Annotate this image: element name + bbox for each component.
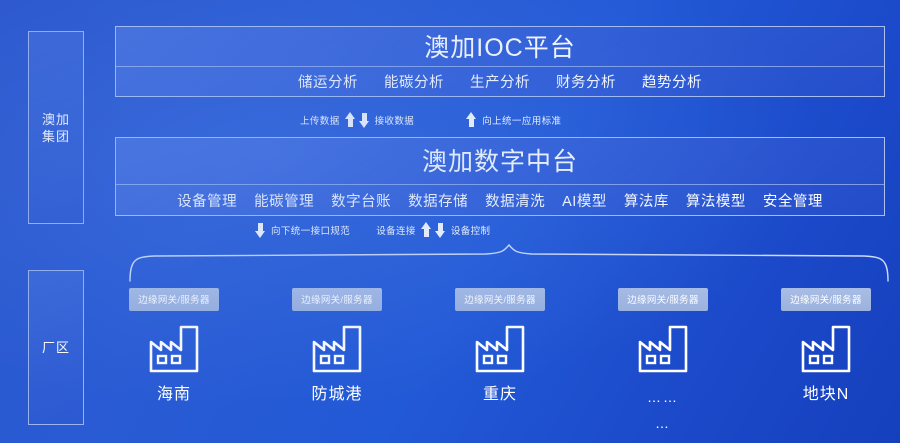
connector-device-control-label: 设备控制 xyxy=(451,223,491,237)
factory-icon xyxy=(147,324,201,374)
connector-device-connect-label: 设备连接 xyxy=(376,223,416,237)
panel-dmp-tag-row: 设备管理 能碳管理 数字台账 数据存储 数据清洗 AI模型 算法库 算法模型 安… xyxy=(116,184,884,215)
factory-icon xyxy=(799,324,853,374)
tag-chuyun-fenxi[interactable]: 储运分析 xyxy=(298,71,358,92)
panel-ioc-platform: 澳加IOC平台 储运分析 能碳分析 生产分析 财务分析 趋势分析 xyxy=(115,26,885,97)
edge-gateway-badge[interactable]: 边缘网关/服务器 xyxy=(129,288,219,311)
tag-ai-moxing[interactable]: AI模型 xyxy=(562,190,607,211)
tag-suanfa-moxing[interactable]: 算法模型 xyxy=(686,190,746,211)
diagram-canvas: 澳加 集团 厂区 澳加IOC平台 储运分析 能碳分析 生产分析 财务分析 趋势分… xyxy=(0,0,900,443)
edge-gateway-badge[interactable]: 边缘网关/服务器 xyxy=(455,288,545,311)
tag-shebei-guanli[interactable]: 设备管理 xyxy=(177,190,237,211)
connector-standard-label: 向上统一应用标准 xyxy=(482,113,561,127)
edge-gateway-badge[interactable]: 边缘网关/服务器 xyxy=(781,288,871,311)
plant-node-fangchenggang[interactable]: 边缘网关/服务器 防城港 xyxy=(271,288,403,438)
factory-icon xyxy=(310,324,364,374)
connector-upload-label: 上传数据 xyxy=(300,113,340,127)
connector-interface-label: 向下统一接口规范 xyxy=(271,223,350,237)
connector-interface: 向下统一接口规范 xyxy=(255,222,350,238)
connector-receive-label: 接收数据 xyxy=(375,113,415,127)
factory-icon xyxy=(473,324,527,374)
panel-ioc-tag-row: 储运分析 能碳分析 生产分析 财务分析 趋势分析 xyxy=(116,66,884,96)
tag-qushi-fenxi[interactable]: 趋势分析 xyxy=(642,71,702,92)
plant-node-hainan[interactable]: 边缘网关/服务器 海南 xyxy=(108,288,240,438)
plant-node-label: 重庆 xyxy=(483,384,517,405)
panel-dmp-title: 澳加数字中台 xyxy=(116,138,884,184)
tag-caiwu-fenxi[interactable]: 财务分析 xyxy=(556,71,616,92)
tag-shuju-cunchu[interactable]: 数据存储 xyxy=(408,190,468,211)
brace-connector xyxy=(128,243,890,283)
plant-node-dikuai-n[interactable]: 边缘网关/服务器 地块N xyxy=(760,288,892,438)
edge-gateway-badge[interactable]: 边缘网关/服务器 xyxy=(292,288,382,311)
connector-upload-receive: 上传数据 接收数据 xyxy=(300,112,414,128)
tag-nengtan-guanli[interactable]: 能碳管理 xyxy=(254,190,314,211)
plant-node-label: …… … xyxy=(647,384,679,436)
tag-shuzi-taizhang[interactable]: 数字台账 xyxy=(331,190,391,211)
tag-shengchan-fenxi[interactable]: 生产分析 xyxy=(470,71,530,92)
panel-digital-midplatform: 澳加数字中台 设备管理 能碳管理 数字台账 数据存储 数据清洗 AI模型 算法库… xyxy=(115,137,885,216)
connector-row-lower: 向下统一接口规范 设备连接 设备控制 xyxy=(115,220,900,240)
plant-node-label: 防城港 xyxy=(311,384,362,405)
tag-shuju-qingxi[interactable]: 数据清洗 xyxy=(485,190,545,211)
arrow-pair-lower xyxy=(421,222,446,238)
plant-node-label: 地块N xyxy=(803,384,850,405)
rail-plant-label: 厂区 xyxy=(42,339,70,356)
tag-nengtan-fenxi[interactable]: 能碳分析 xyxy=(384,71,444,92)
arrow-down-icon xyxy=(435,222,446,238)
edge-gateway-badge[interactable]: 边缘网关/服务器 xyxy=(618,288,708,311)
tag-suanfa-ku[interactable]: 算法库 xyxy=(624,190,669,211)
rail-group-label: 澳加 集团 xyxy=(42,111,70,145)
factory-icon xyxy=(636,324,690,374)
arrow-down-icon xyxy=(359,112,370,128)
tag-anquan-guanli[interactable]: 安全管理 xyxy=(763,190,823,211)
plant-node-chongqing[interactable]: 边缘网关/服务器 重庆 xyxy=(434,288,566,438)
connector-standard: 向上统一应用标准 xyxy=(466,112,561,128)
plant-node-more[interactable]: 边缘网关/服务器 …… … xyxy=(597,288,729,438)
arrow-pair-upper xyxy=(345,112,370,128)
rail-plant: 厂区 xyxy=(28,270,84,425)
rail-group: 澳加 集团 xyxy=(28,31,84,224)
connector-device: 设备连接 设备控制 xyxy=(376,222,490,238)
arrow-up-icon xyxy=(421,222,432,238)
arrow-down-icon xyxy=(255,222,266,238)
panel-ioc-title: 澳加IOC平台 xyxy=(116,27,884,66)
connector-row-upper: 上传数据 接收数据 向上统一应用标准 xyxy=(115,110,900,130)
plant-node-list: 边缘网关/服务器 海南 边缘网关/服务器 防城港 边缘网关/服务器 xyxy=(108,288,892,438)
arrow-up-icon xyxy=(466,112,477,128)
plant-node-label: 海南 xyxy=(157,384,191,405)
arrow-up-icon xyxy=(345,112,356,128)
